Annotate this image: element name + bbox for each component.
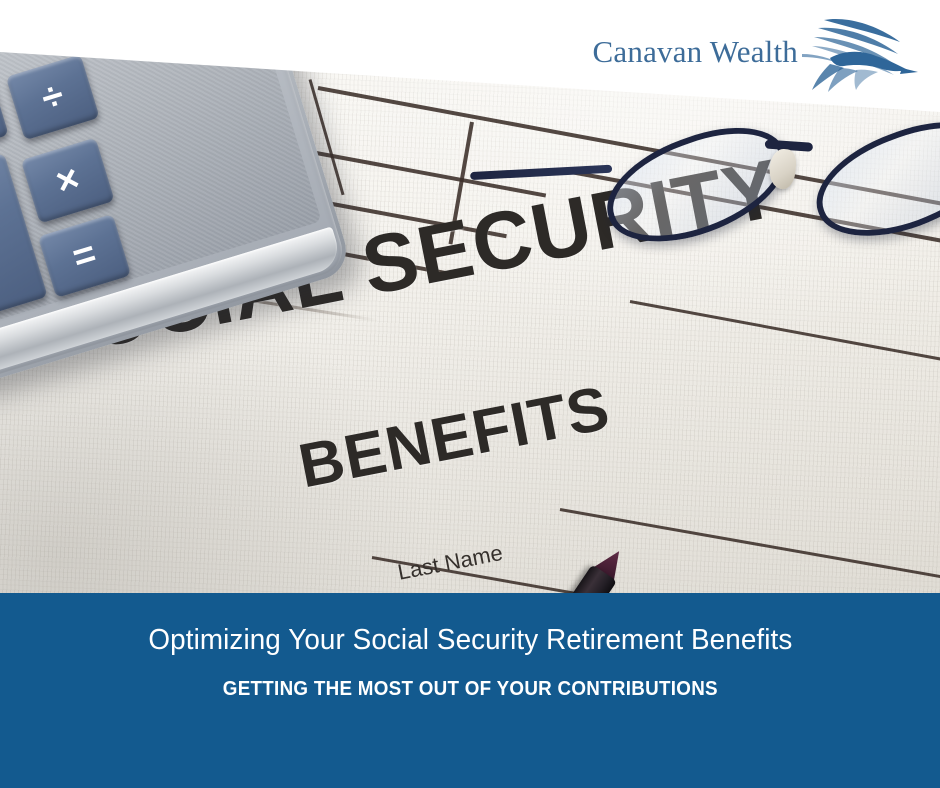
banner-subtitle: GETTING THE MOST OUT OF YOUR CONTRIBUTIO…	[222, 678, 717, 701]
title-banner: Optimizing Your Social Security Retireme…	[0, 593, 940, 788]
banner-title: Optimizing Your Social Security Retireme…	[148, 624, 792, 657]
brand-name: Canavan Wealth	[593, 36, 798, 71]
eyeglasses-lens-right	[802, 102, 940, 257]
poster-canvas: SOCIAL SECURITY BENEFITS Last Name 6 − ÷…	[0, 0, 940, 788]
eyeglasses-lens-left	[592, 108, 801, 263]
flying-bird-icon	[800, 14, 918, 92]
brand-logo[interactable]: Canavan Wealth	[593, 14, 918, 92]
